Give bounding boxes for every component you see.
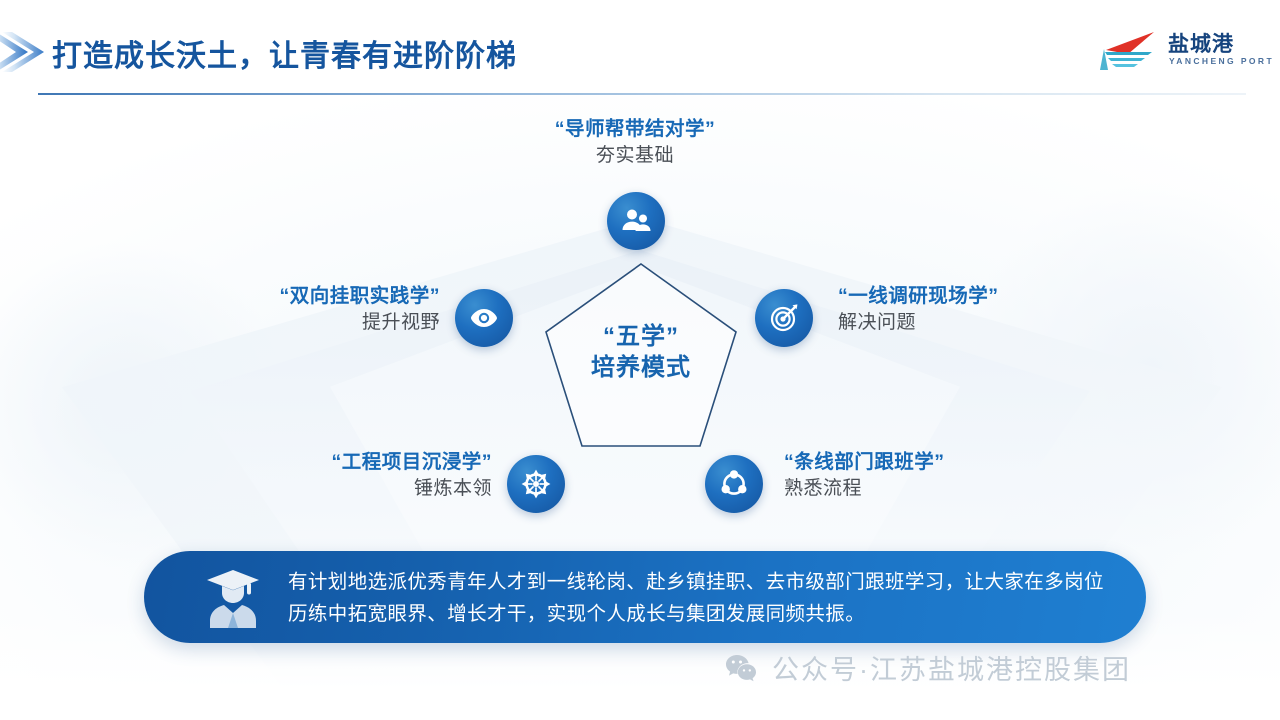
yancheng-port-sail-icon bbox=[1098, 30, 1160, 74]
slide-root: 打造成长沃土，让青春有进阶阶梯 盐城港 YANCHENG PORT “五学” 培… bbox=[0, 0, 1280, 720]
node-title: “双向挂职实践学” bbox=[100, 285, 440, 308]
page-title: 打造成长沃土，让青春有进阶阶梯 bbox=[52, 31, 517, 75]
watermark: 公众号·江苏盐城港控股集团 bbox=[724, 648, 1131, 687]
node-text-block: “导师帮带结对学” 夯实基础 bbox=[435, 118, 835, 169]
node-subtitle: 解决问题 bbox=[838, 310, 1198, 336]
summary-banner: 有计划地选派优秀青年人才到一线轮岗、赴乡镇挂职、去市级部门跟班学习，让大家在多岗… bbox=[144, 551, 1146, 643]
node-text-block: “工程项目沉浸学” 锤炼本领 bbox=[150, 451, 492, 502]
central-label: “五学” 培养模式 bbox=[541, 322, 741, 383]
share-network-icon bbox=[705, 455, 763, 513]
central-label-line2: 培养模式 bbox=[541, 353, 741, 384]
node-subtitle: 夯实基础 bbox=[435, 143, 835, 169]
node-text-block: “双向挂职实践学” 提升视野 bbox=[100, 285, 440, 336]
brand-logo: 盐城港 YANCHENG PORT bbox=[1098, 26, 1246, 78]
target-dart-icon bbox=[755, 289, 813, 347]
slide-header: 打造成长沃土，让青春有进阶阶梯 盐城港 YANCHENG PORT bbox=[0, 0, 1280, 100]
node-subtitle: 熟悉流程 bbox=[784, 476, 1144, 502]
chevron-right-icon bbox=[0, 30, 48, 74]
banner-text: 有计划地选派优秀青年人才到一线轮岗、赴乡镇挂职、去市级部门跟班学习，让大家在多岗… bbox=[288, 567, 1108, 630]
graduate-icon bbox=[204, 567, 262, 629]
ship-helm-icon bbox=[507, 455, 565, 513]
logo-name-en: YANCHENG PORT bbox=[1169, 56, 1274, 66]
wechat-icon bbox=[724, 651, 758, 685]
watermark-text: 公众号·江苏盐城港控股集团 bbox=[772, 648, 1131, 687]
node-text-block: “条线部门跟班学” 熟悉流程 bbox=[784, 451, 1144, 502]
eye-icon bbox=[455, 289, 513, 347]
two-people-icon bbox=[607, 192, 665, 250]
background-glow-right bbox=[960, 180, 1280, 560]
node-title: “导师帮带结对学” bbox=[435, 118, 835, 141]
header-divider bbox=[38, 93, 1246, 95]
node-subtitle: 锤炼本领 bbox=[150, 476, 492, 502]
central-label-line1: “五学” bbox=[541, 322, 741, 353]
node-title: “一线调研现场学” bbox=[838, 285, 1198, 308]
node-text-block: “一线调研现场学” 解决问题 bbox=[838, 285, 1198, 336]
logo-name-cn: 盐城港 bbox=[1168, 28, 1234, 58]
node-subtitle: 提升视野 bbox=[100, 310, 440, 336]
node-title: “条线部门跟班学” bbox=[784, 451, 1144, 474]
node-title: “工程项目沉浸学” bbox=[150, 451, 492, 474]
